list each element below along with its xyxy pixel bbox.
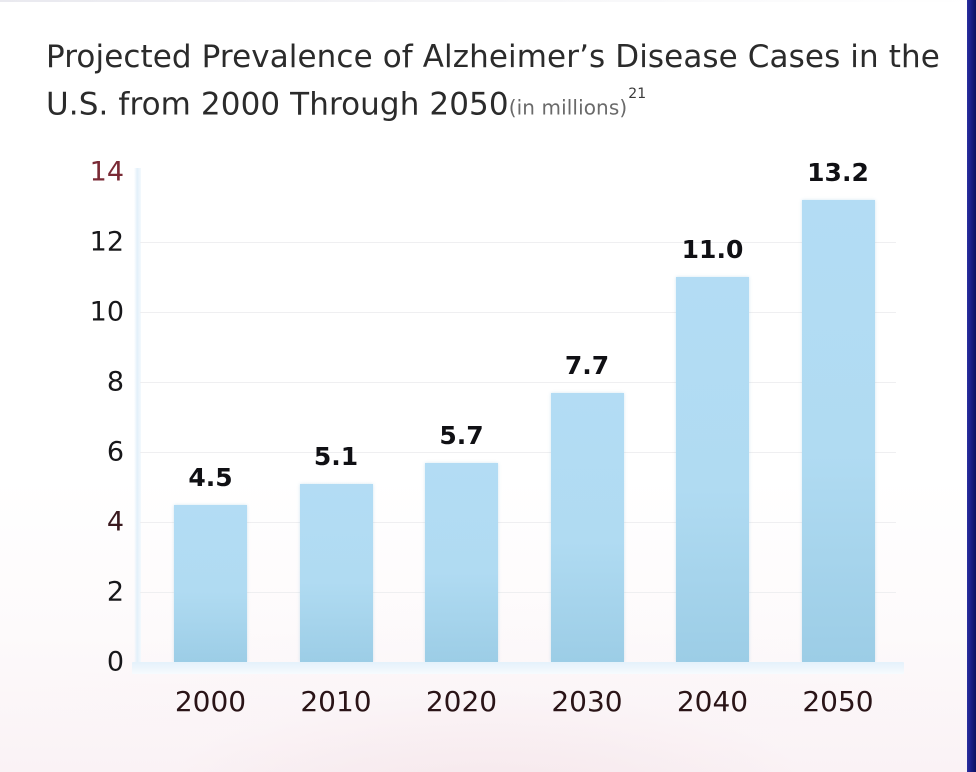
y-axis-tick-label: 6	[64, 439, 124, 466]
x-axis-tick-label: 2050	[758, 688, 918, 716]
gridline	[140, 592, 896, 593]
y-axis-tick-label: 0	[64, 649, 124, 676]
y-axis-tick-labels: 02468101214	[62, 172, 124, 662]
title-footnote-marker: 21	[628, 86, 646, 102]
y-axis-tick-label: 2	[64, 579, 124, 606]
bar	[174, 505, 247, 663]
bar-value-label: 7.7	[527, 353, 647, 378]
x-axis-baseline	[132, 662, 904, 674]
title-line-1: Projected Prevalence of Alzheimer’s Dise…	[46, 36, 926, 78]
gridline	[140, 382, 896, 383]
bar-value-label: 5.7	[402, 423, 522, 448]
x-axis-tick-labels: 200020102020203020402050	[140, 688, 916, 728]
bar-value-label: 4.5	[151, 465, 271, 490]
chart-plot-area: 4.55.15.77.711.013.2	[140, 172, 896, 662]
bar-value-label: 11.0	[653, 237, 773, 262]
gridline	[140, 522, 896, 523]
y-axis-tick-label: 12	[64, 229, 124, 256]
page-title: Projected Prevalence of Alzheimer’s Dise…	[46, 36, 926, 128]
bar	[300, 484, 373, 663]
y-axis-tick-label: 8	[64, 369, 124, 396]
gridline	[140, 242, 896, 243]
bar-value-label: 13.2	[778, 160, 898, 185]
slide-canvas: Projected Prevalence of Alzheimer’s Dise…	[0, 0, 976, 772]
bar	[551, 393, 624, 663]
gridline	[140, 452, 896, 453]
y-axis-tick-label: 14	[64, 159, 124, 186]
bar	[676, 277, 749, 662]
title-line-2: U.S. from 2000 Through 2050(in millions)…	[46, 78, 926, 128]
title-line-2-text: U.S. from 2000 Through 2050	[46, 86, 509, 122]
bar	[425, 463, 498, 663]
bar	[802, 200, 875, 662]
gridline	[140, 312, 896, 313]
title-unit-label: (in millions)	[509, 95, 628, 119]
top-edge-divider	[0, 0, 976, 2]
y-axis-tick-label: 4	[64, 509, 124, 536]
bar-value-label: 5.1	[276, 444, 396, 469]
right-accent-stripe	[967, 0, 976, 772]
y-axis-tick-label: 10	[64, 299, 124, 326]
